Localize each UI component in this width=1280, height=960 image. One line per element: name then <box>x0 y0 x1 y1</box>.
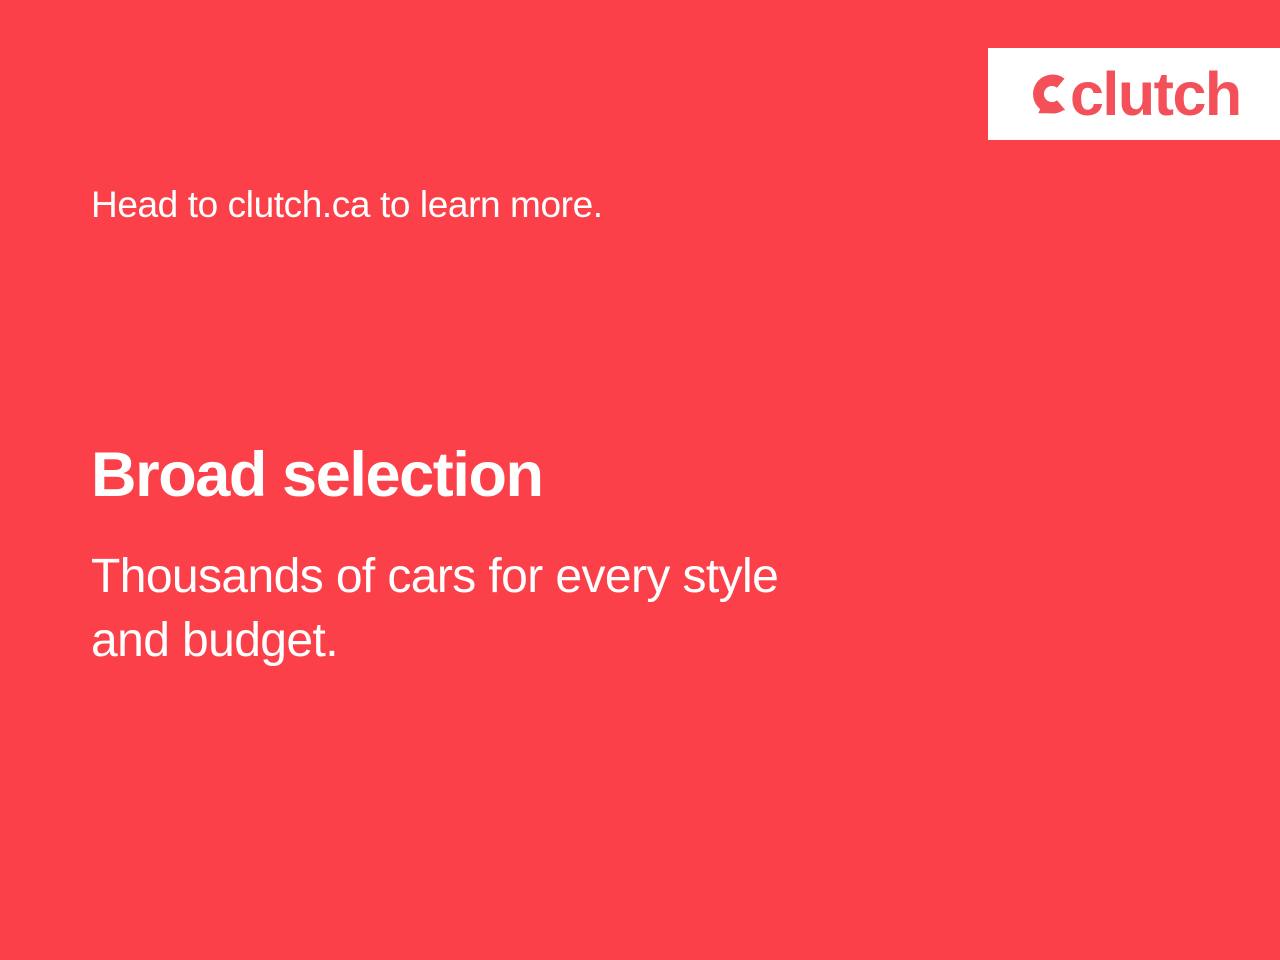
subhead-line-1: Thousands of cars for every style <box>91 545 1051 609</box>
brand-logo-plaque[interactable]: clutch <box>988 48 1280 140</box>
page-title: Broad selection <box>91 441 543 510</box>
clutch-c-car-mark-icon <box>1024 66 1070 122</box>
brand-lockup: clutch <box>1024 64 1241 124</box>
eyebrow-text: Head to clutch.ca to learn more. <box>91 184 603 225</box>
slide-canvas: clutch Head to clutch.ca to learn more. … <box>0 0 1280 960</box>
brand-wordmark: clutch <box>1070 64 1241 125</box>
subhead-text: Thousands of cars for every style and bu… <box>91 545 1051 674</box>
subhead-line-2: and budget. <box>91 609 1051 673</box>
